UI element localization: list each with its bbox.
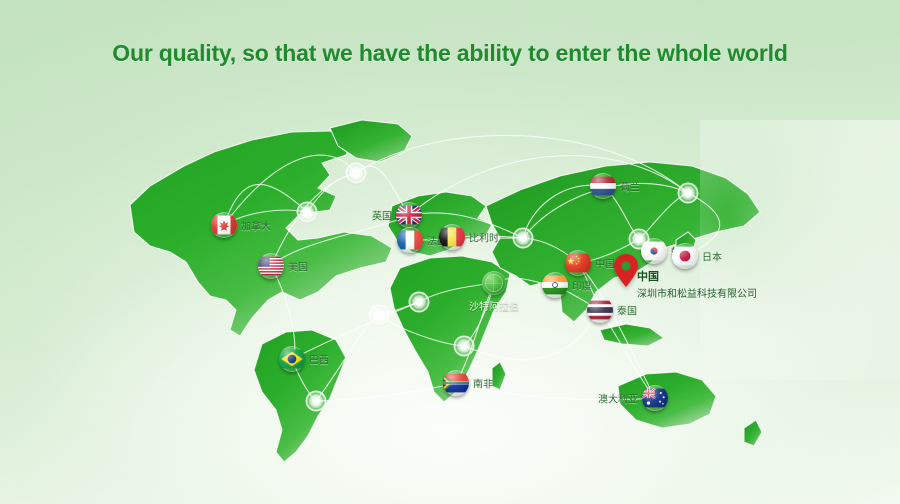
hub-node-east-asia[interactable] [630,230,648,248]
flag-uk-icon [396,202,422,228]
marker-japan[interactable]: 日本 [672,243,698,269]
marker-label-thailand: 泰国 [617,303,637,318]
hub-node-mid-atlantic[interactable] [455,337,473,355]
marker-label-china-flag: 中国 [595,256,615,271]
flag-canada-icon [211,212,237,238]
marker-france[interactable]: 法国 [397,227,423,253]
flag-france-icon [397,227,423,253]
marker-label-united-states: 美国 [288,259,308,274]
marker-label-belgium: 比利时 [469,230,499,245]
world-map: 加拿大 美国 巴西 英国 法国 [0,0,900,504]
indonesia [600,324,664,346]
marker-label-united-kingdom: 英国 [372,208,392,223]
globe-marker-label-wrap: 沙特阿拉伯 [469,298,519,313]
marker-label-canada: 加拿大 [241,218,271,233]
north-america [130,131,392,336]
flag-usa-icon [258,253,284,279]
marker-canada[interactable]: 加拿大 [211,212,237,238]
hub-node-greenland[interactable] [298,203,316,221]
marker-united-kingdom[interactable]: 英国 [396,202,422,228]
madagascar [492,362,506,390]
map-graphics [0,0,900,504]
hub-node-central-asia[interactable] [514,229,532,247]
new-zealand [744,420,762,446]
headquarters-country: 中国 [637,268,757,284]
marker-label-australia: 澳大利亚 [598,391,638,406]
flag-australia-icon [642,385,668,411]
slide-canvas: Our quality, so that we have the ability… [0,0,900,504]
headquarters-company: 深圳市和松益科技有限公司 [637,285,757,300]
marker-thailand[interactable]: 泰国 [587,297,613,323]
hub-node-north-atlantic[interactable] [347,164,365,182]
marker-label-brazil: 巴西 [309,352,329,367]
marker-label-south-africa: 南非 [473,376,493,391]
right-fade-overlay [700,120,900,380]
flag-belgium-icon [439,224,465,250]
flag-brazil-icon [279,346,305,372]
hub-node-south-america[interactable] [307,392,325,410]
flag-china-icon [565,250,591,276]
marker-china-flag[interactable]: 中国 [565,250,591,276]
hub-node-north-africa[interactable] [410,293,428,311]
hub-node-siberia[interactable] [679,184,697,202]
globe-marker-label: 沙特阿拉伯 [469,298,519,313]
flag-netherlands-icon [590,173,616,199]
marker-brazil[interactable]: 巴西 [279,346,305,372]
flag-japan-icon [672,243,698,269]
marker-netherlands[interactable]: 荷兰 [590,173,616,199]
globe-icon[interactable] [482,271,506,295]
marker-belgium[interactable]: 比利时 [439,224,465,250]
flag-thailand-icon [587,297,613,323]
marker-united-states[interactable]: 美国 [258,253,284,279]
marker-south-africa[interactable]: 南非 [443,370,469,396]
hub-node-west-africa[interactable] [370,306,388,324]
flag-southafrica-icon [443,370,469,396]
marker-label-india: 印度 [572,278,592,293]
headquarters-label: 中国 深圳市和松益科技有限公司 [637,268,757,300]
marker-label-japan: 日本 [702,249,722,264]
marker-label-netherlands: 荷兰 [620,179,640,194]
headquarters-pin[interactable]: 中国 深圳市和松益科技有限公司 [613,254,639,288]
map-pin-icon [613,254,639,288]
marker-australia[interactable]: 澳大利亚 [642,385,668,411]
